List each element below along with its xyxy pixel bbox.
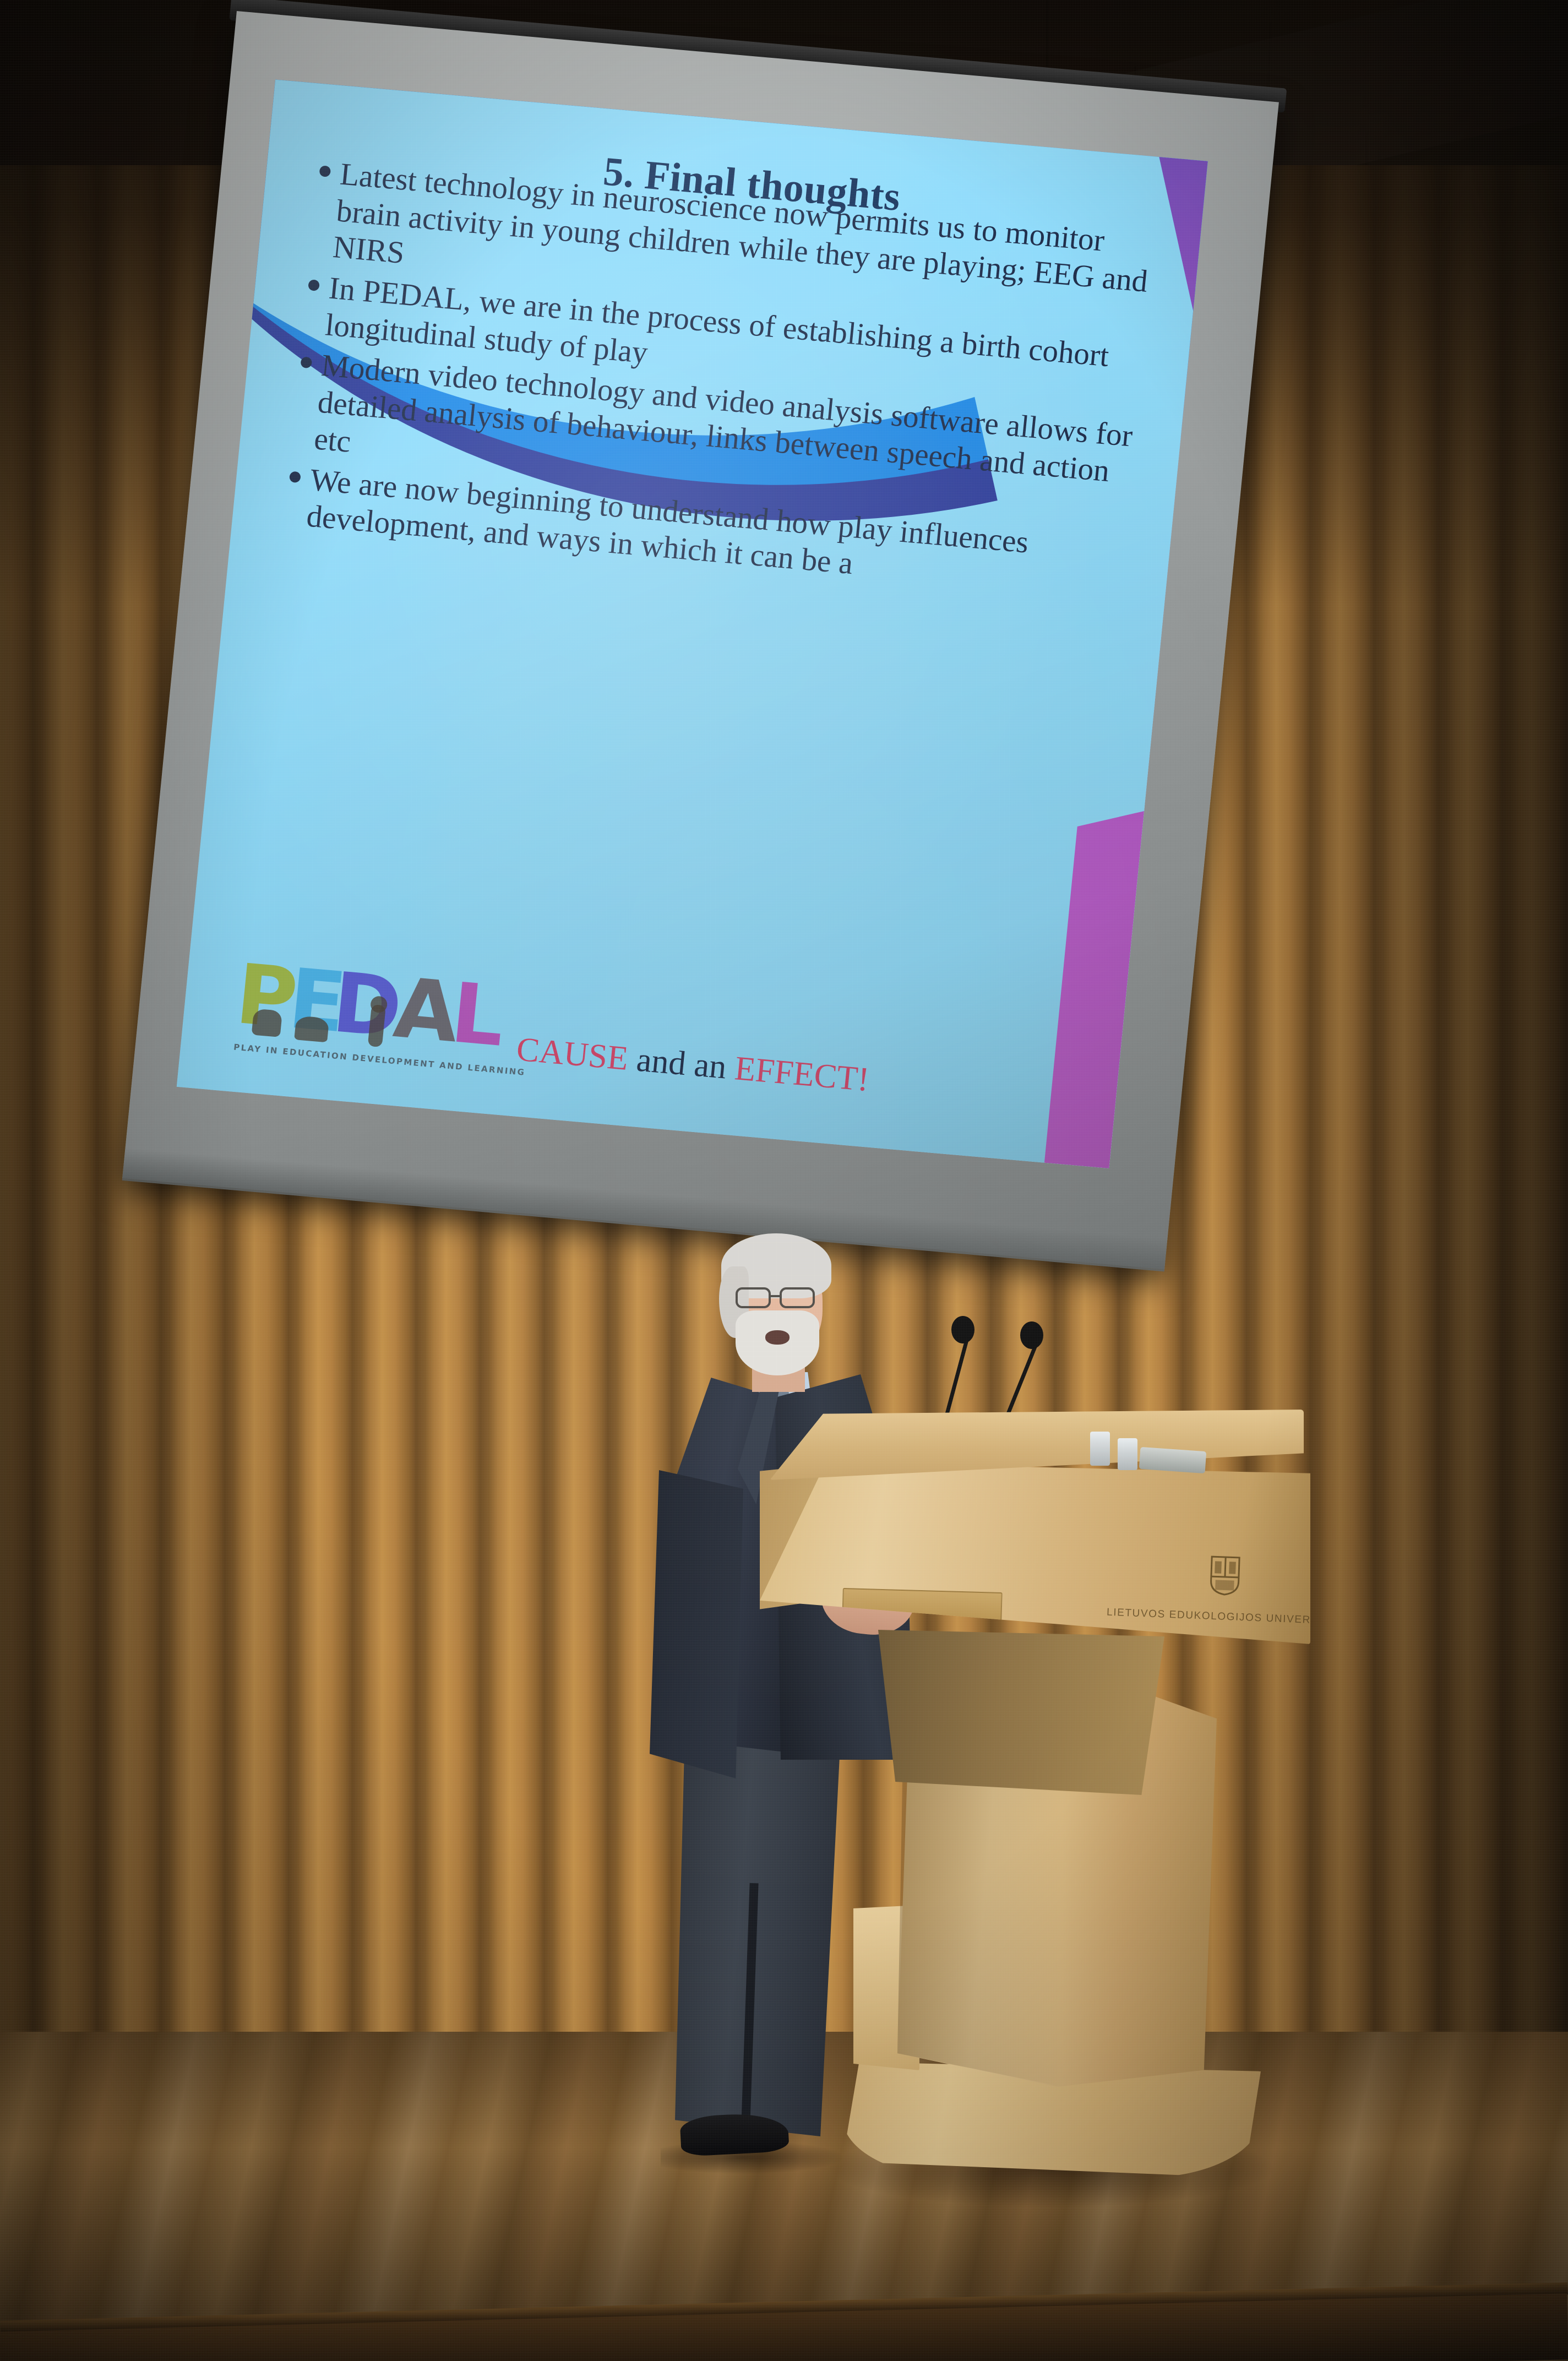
slide-surface[interactable]: 5. Final thoughts Latest technology in n… xyxy=(177,80,1208,1168)
projection-screen[interactable]: 5. Final thoughts Latest technology in n… xyxy=(122,11,1279,1269)
bullet-dot-icon xyxy=(308,279,320,291)
lectern-neck xyxy=(878,1630,1164,1795)
water-bottle xyxy=(1118,1438,1137,1470)
eyeglass-lens-left xyxy=(736,1287,771,1308)
child-silhouette-icon xyxy=(252,1009,282,1037)
lectern-plaque xyxy=(842,1588,1002,1623)
lectern-front-face: LIETUVOS EDUKOLOGIJOS UNIVERSITETAS xyxy=(760,1462,1310,1644)
control-box xyxy=(1139,1447,1206,1473)
microphone-head-icon xyxy=(1020,1321,1043,1349)
bullet-dot-icon xyxy=(319,165,331,177)
keyword-cause: CAUSE xyxy=(515,1031,630,1078)
keyword-effect: EFFECT! xyxy=(733,1049,870,1098)
slide-content: 5. Final thoughts Latest technology in n… xyxy=(177,80,1208,1168)
bullet-dot-icon xyxy=(300,357,312,369)
eyeglass-lens-right xyxy=(780,1287,815,1308)
water-bottle xyxy=(1090,1432,1110,1466)
lectern: LIETUVOS EDUKOLOGIJOS UNIVERSITETAS xyxy=(760,1410,1316,2268)
speaker-arm xyxy=(650,1470,743,1778)
bullet-dot-icon xyxy=(289,471,301,483)
slide-bullet-list: Latest technology in neuroscience now pe… xyxy=(284,154,1177,612)
university-crest-icon xyxy=(1210,1555,1240,1596)
pedal-logo: P E D A L PLAY IN EDUCATION DEVELOPMENT … xyxy=(230,953,471,1089)
eyeglasses-icon xyxy=(736,1287,821,1308)
microphone-head-icon xyxy=(951,1316,974,1343)
slide-closing-line: CAUSE and an EFFECT! xyxy=(513,1030,871,1124)
photograph-scene: 5. Final thoughts Latest technology in n… xyxy=(0,0,1568,2361)
lectern-university-text: LIETUVOS EDUKOLOGIJOS UNIVERSITETAS xyxy=(1107,1607,1289,1626)
closing-connector: and an xyxy=(627,1040,737,1087)
pedal-letter-l: L xyxy=(448,972,508,1059)
pedal-wordmark: P E D A L xyxy=(232,953,471,1057)
speaker-mouth xyxy=(765,1330,790,1345)
